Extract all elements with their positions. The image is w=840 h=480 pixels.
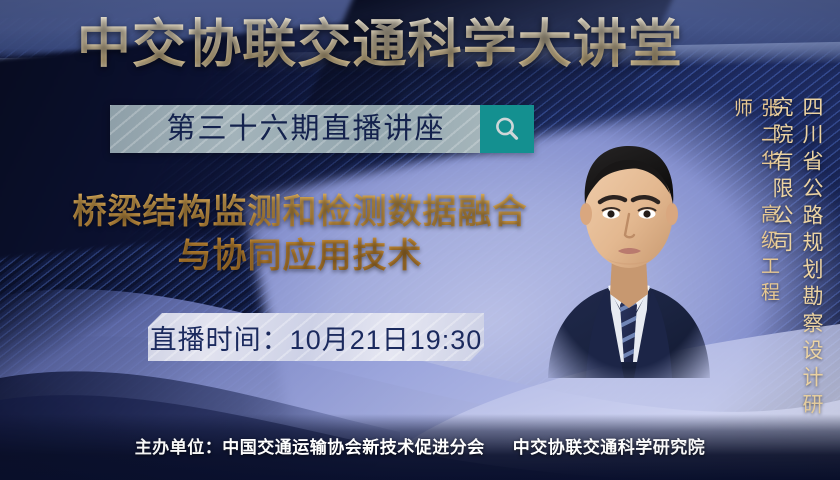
footer-prefix: 主办单位： (135, 438, 223, 457)
footer-org-1: 中国交通运输协会新技术促进分会 (222, 438, 485, 457)
footer-org-2: 中交协联交通科学研究院 (513, 438, 706, 457)
search-icon[interactable] (480, 105, 534, 153)
headline-line-1: 桥梁结构监测和检测数据融合 (30, 190, 570, 234)
footer-organizers: 主办单位：中国交通运输协会新技术促进分会中交协联交通科学研究院 (0, 433, 840, 458)
poster-headline: 桥梁结构监测和检测数据融合 与协同应用技术 (30, 190, 570, 278)
episode-label: 第三十六期直播讲座 (110, 105, 480, 153)
episode-bar: 第三十六期直播讲座 (110, 105, 534, 153)
poster-title: 中交协联交通科学大讲堂 (0, 16, 775, 74)
speaker-organization-vertical: 四川省公路规划勘察设计研究院有限公司 (766, 96, 826, 444)
live-time-plate: 直播时间：10月21日19:30 (148, 313, 484, 361)
promo-poster: 中交协联交通科学大讲堂 第三十六期直播讲座 桥梁结构监测和检测数据融合 与协同应… (0, 0, 840, 480)
live-time-text: 直播时间：10月21日19:30 (150, 318, 483, 357)
headline-line-2: 与协同应用技术 (30, 234, 570, 278)
